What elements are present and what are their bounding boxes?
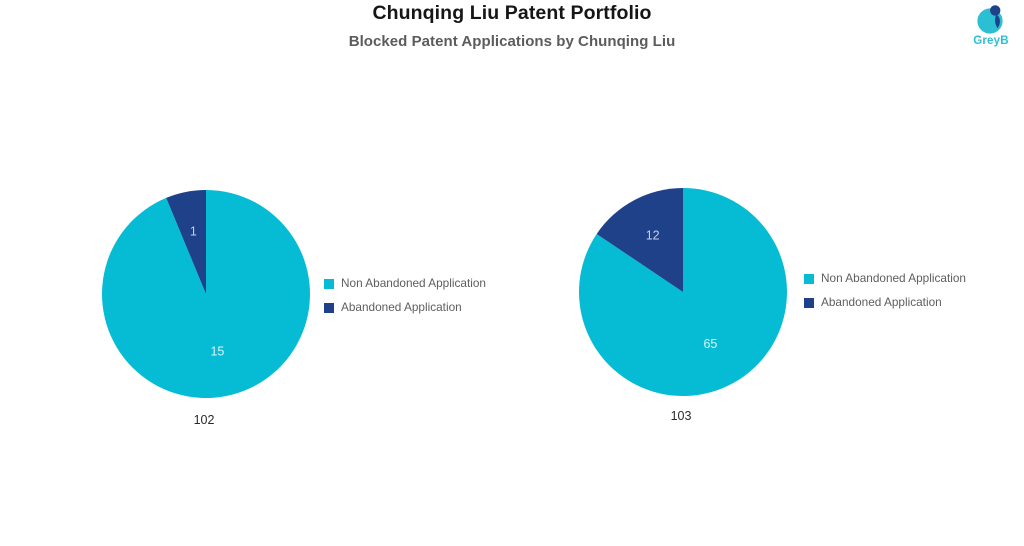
pie-slice-value: 65: [703, 337, 717, 351]
category-label-103: 103: [651, 409, 711, 423]
pie-chart-102: 151: [100, 188, 312, 400]
category-label-102: 102: [174, 413, 234, 427]
pie-slice-value: 15: [210, 345, 224, 359]
legend-item-abandoned[interactable]: Abandoned Application: [324, 296, 486, 320]
greyb-logo-text: GreyB: [967, 35, 1015, 47]
legend-label-non-abandoned: Non Abandoned Application: [821, 273, 966, 285]
pie-graphic: 6512: [577, 186, 789, 398]
legend-item-abandoned[interactable]: Abandoned Application: [804, 291, 966, 315]
greyb-logo: GreyB: [967, 2, 1015, 54]
pie-slice-value: 12: [646, 229, 660, 243]
legend: Non Abandoned Application Abandoned Appl…: [804, 267, 966, 315]
legend: Non Abandoned Application Abandoned Appl…: [324, 272, 486, 320]
legend-swatch-non-abandoned: [804, 274, 814, 284]
legend-swatch-non-abandoned: [324, 279, 334, 289]
page-title: Chunqing Liu Patent Portfolio: [0, 2, 1024, 25]
legend-label-abandoned: Abandoned Application: [341, 302, 462, 314]
pie-chart-103: 6512: [577, 186, 789, 398]
legend-swatch-abandoned: [804, 298, 814, 308]
legend-label-abandoned: Abandoned Application: [821, 297, 942, 309]
legend-item-non-abandoned[interactable]: Non Abandoned Application: [324, 272, 486, 296]
pie-slice-value: 1: [190, 224, 197, 238]
greyb-logo-icon: [974, 2, 1008, 36]
legend-item-non-abandoned[interactable]: Non Abandoned Application: [804, 267, 966, 291]
pie-graphic: 151: [100, 188, 312, 400]
legend-label-non-abandoned: Non Abandoned Application: [341, 278, 486, 290]
legend-swatch-abandoned: [324, 303, 334, 313]
page-subtitle: Blocked Patent Applications by Chunqing …: [0, 33, 1024, 50]
